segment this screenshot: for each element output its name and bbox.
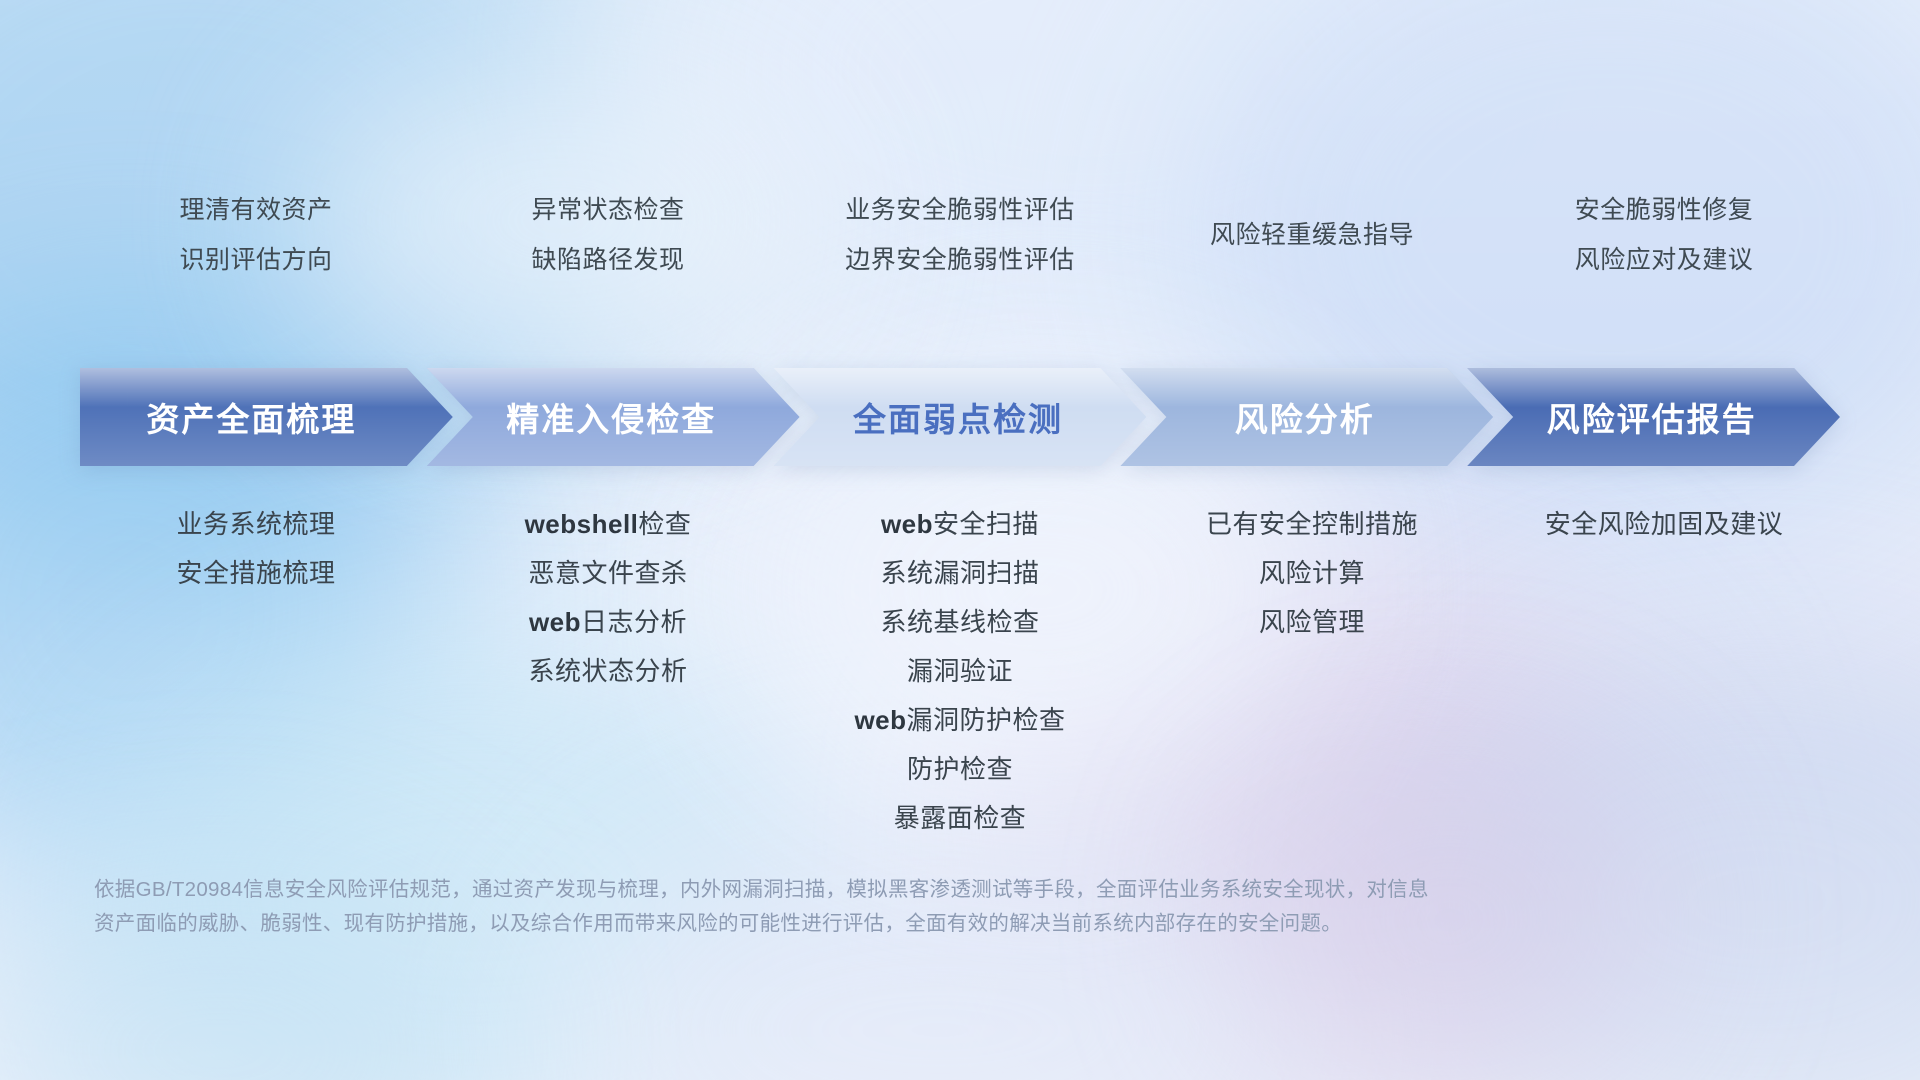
top-notes-column-intrusion-check: 异常状态检查缺陷路径发现 — [432, 185, 784, 285]
stage-item: web漏洞防护检查 — [854, 696, 1065, 745]
stage-arrow-weakness-detection[interactable]: 全面弱点检测 — [774, 368, 1147, 466]
stage-item: 风险管理 — [1259, 598, 1365, 647]
stage-items-column-risk-report: 安全风险加固及建议 — [1488, 500, 1840, 830]
latin-token: webshell — [525, 509, 639, 539]
stage-item: 系统基线检查 — [880, 598, 1039, 647]
stage-item: 恶意文件查杀 — [528, 549, 687, 598]
stage-item: 安全措施梳理 — [176, 549, 335, 598]
stage-title: 风险分析 — [1120, 393, 1493, 441]
top-note: 风险轻重缓急指导 — [1210, 210, 1414, 260]
footer-description: 依据GB/T20984信息安全风险评估规范，通过资产发现与梳理，内外网漏洞扫描，… — [94, 873, 1614, 941]
top-note: 风险应对及建议 — [1575, 235, 1754, 285]
top-note: 业务安全脆弱性评估 — [845, 185, 1075, 235]
stage-arrow-asset-inventory[interactable]: 资产全面梳理 — [80, 368, 453, 466]
stage-title: 精准入侵检查 — [427, 393, 800, 441]
top-note: 异常状态检查 — [531, 185, 684, 235]
top-notes-column-risk-analysis: 风险轻重缓急指导 — [1136, 185, 1488, 285]
stage-items-column-weakness-detection: web安全扫描系统漏洞扫描系统基线检查漏洞验证web漏洞防护检查防护检查暴露面检… — [784, 500, 1136, 830]
footer-line-2: 资产面临的威胁、脆弱性、现有防护措施，以及综合作用而带来风险的可能性进行评估，全… — [94, 907, 1614, 941]
latin-token: web — [854, 705, 906, 735]
stage-arrow-risk-report[interactable]: 风险评估报告 — [1467, 368, 1840, 466]
top-notes-column-asset-inventory: 理清有效资产识别评估方向 — [80, 185, 432, 285]
stage-item: 已有安全控制措施 — [1206, 500, 1418, 549]
stage-title: 资产全面梳理 — [80, 393, 453, 441]
stage-item: web日志分析 — [529, 598, 687, 647]
stage-items-row: 业务系统梳理安全措施梳理webshell检查恶意文件查杀web日志分析系统状态分… — [80, 500, 1840, 830]
stage-items-column-risk-analysis: 已有安全控制措施风险计算风险管理 — [1136, 500, 1488, 830]
stage-title: 全面弱点检测 — [774, 393, 1147, 441]
stage-arrow-intrusion-check[interactable]: 精准入侵检查 — [427, 368, 800, 466]
stage-item: 安全风险加固及建议 — [1545, 500, 1784, 549]
top-note: 理清有效资产 — [179, 185, 332, 235]
stage-item: webshell检查 — [525, 500, 692, 549]
top-notes-row: 理清有效资产识别评估方向异常状态检查缺陷路径发现业务安全脆弱性评估边界安全脆弱性… — [80, 185, 1840, 285]
stage-item: 漏洞验证 — [907, 647, 1013, 696]
footer-line-1: 依据GB/T20984信息安全风险评估规范，通过资产发现与梳理，内外网漏洞扫描，… — [94, 873, 1614, 907]
stage-item: web安全扫描 — [881, 500, 1039, 549]
latin-token: web — [881, 509, 933, 539]
stage-item: 风险计算 — [1259, 549, 1365, 598]
stage-items-column-asset-inventory: 业务系统梳理安全措施梳理 — [80, 500, 432, 830]
stage-item: 暴露面检查 — [894, 794, 1027, 843]
stage-item: 系统状态分析 — [528, 647, 687, 696]
top-note: 缺陷路径发现 — [531, 235, 684, 285]
stage-arrow-band: 资产全面梳理精准入侵检查全面弱点检测风险分析风险评估报告 — [80, 368, 1840, 466]
stage-arrow-risk-analysis[interactable]: 风险分析 — [1120, 368, 1493, 466]
top-note: 识别评估方向 — [179, 235, 332, 285]
latin-token: web — [529, 607, 581, 637]
top-notes-column-weakness-detection: 业务安全脆弱性评估边界安全脆弱性评估 — [784, 185, 1136, 285]
stage-title: 风险评估报告 — [1467, 393, 1840, 441]
stage-item: 系统漏洞扫描 — [880, 549, 1039, 598]
stage-item: 防护检查 — [907, 745, 1013, 794]
stage-items-column-intrusion-check: webshell检查恶意文件查杀web日志分析系统状态分析 — [432, 500, 784, 830]
top-note: 边界安全脆弱性评估 — [845, 235, 1075, 285]
top-notes-column-risk-report: 安全脆弱性修复风险应对及建议 — [1488, 185, 1840, 285]
top-note: 安全脆弱性修复 — [1575, 185, 1754, 235]
process-diagram: 理清有效资产识别评估方向异常状态检查缺陷路径发现业务安全脆弱性评估边界安全脆弱性… — [0, 0, 1920, 1080]
stage-item: 业务系统梳理 — [176, 500, 335, 549]
